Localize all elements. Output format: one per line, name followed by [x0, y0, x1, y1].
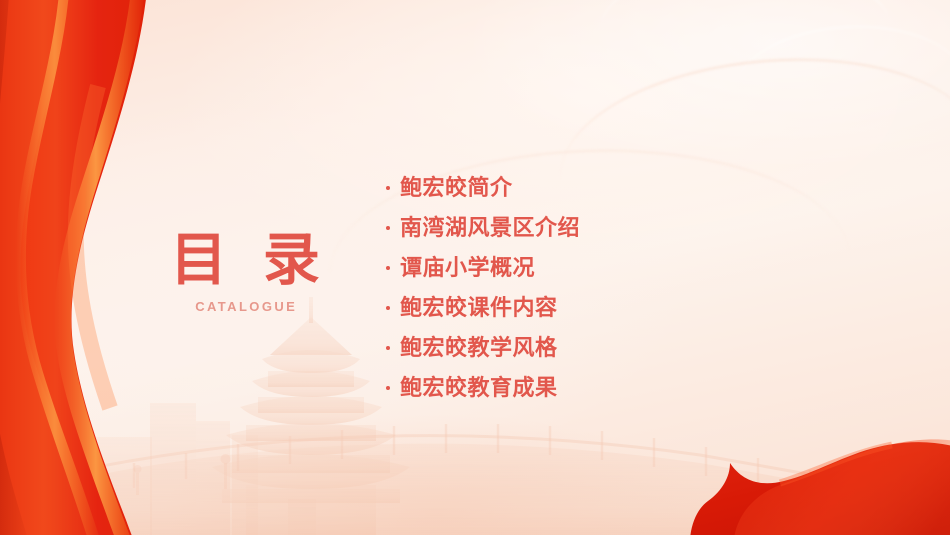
list-item[interactable]: 谭庙小学概况: [386, 248, 856, 288]
toc-item-label: 鲍宏皎课件内容: [400, 295, 558, 321]
page-subtitle: CATALOGUE: [150, 299, 340, 315]
catalogue-heading: 目 录 CATALOGUE: [150, 228, 340, 315]
toc-item-label: 鲍宏皎简介: [400, 175, 513, 201]
table-of-contents: 鲍宏皎简介 南湾湖风景区介绍 谭庙小学概况 鲍宏皎课件内容 鲍宏皎教学风格 鲍宏…: [386, 168, 856, 408]
toc-item-label: 南湾湖风景区介绍: [400, 215, 580, 241]
bullet-icon: [386, 186, 390, 190]
bullet-icon: [386, 306, 390, 310]
presentation-slide: 目 录 CATALOGUE 鲍宏皎简介 南湾湖风景区介绍 谭庙小学概况 鲍宏皎课…: [0, 0, 950, 535]
list-item[interactable]: 鲍宏皎教育成果: [386, 368, 856, 408]
list-item[interactable]: 鲍宏皎教学风格: [386, 328, 856, 368]
bullet-icon: [386, 266, 390, 270]
page-title: 目 录: [150, 228, 340, 292]
bullet-icon: [386, 226, 390, 230]
bullet-icon: [386, 346, 390, 350]
list-item[interactable]: 南湾湖风景区介绍: [386, 208, 856, 248]
list-item[interactable]: 鲍宏皎课件内容: [386, 288, 856, 328]
toc-item-label: 谭庙小学概况: [400, 255, 535, 281]
list-item[interactable]: 鲍宏皎简介: [386, 168, 856, 208]
toc-item-label: 鲍宏皎教育成果: [400, 375, 558, 401]
bullet-icon: [386, 386, 390, 390]
toc-item-label: 鲍宏皎教学风格: [400, 335, 558, 361]
